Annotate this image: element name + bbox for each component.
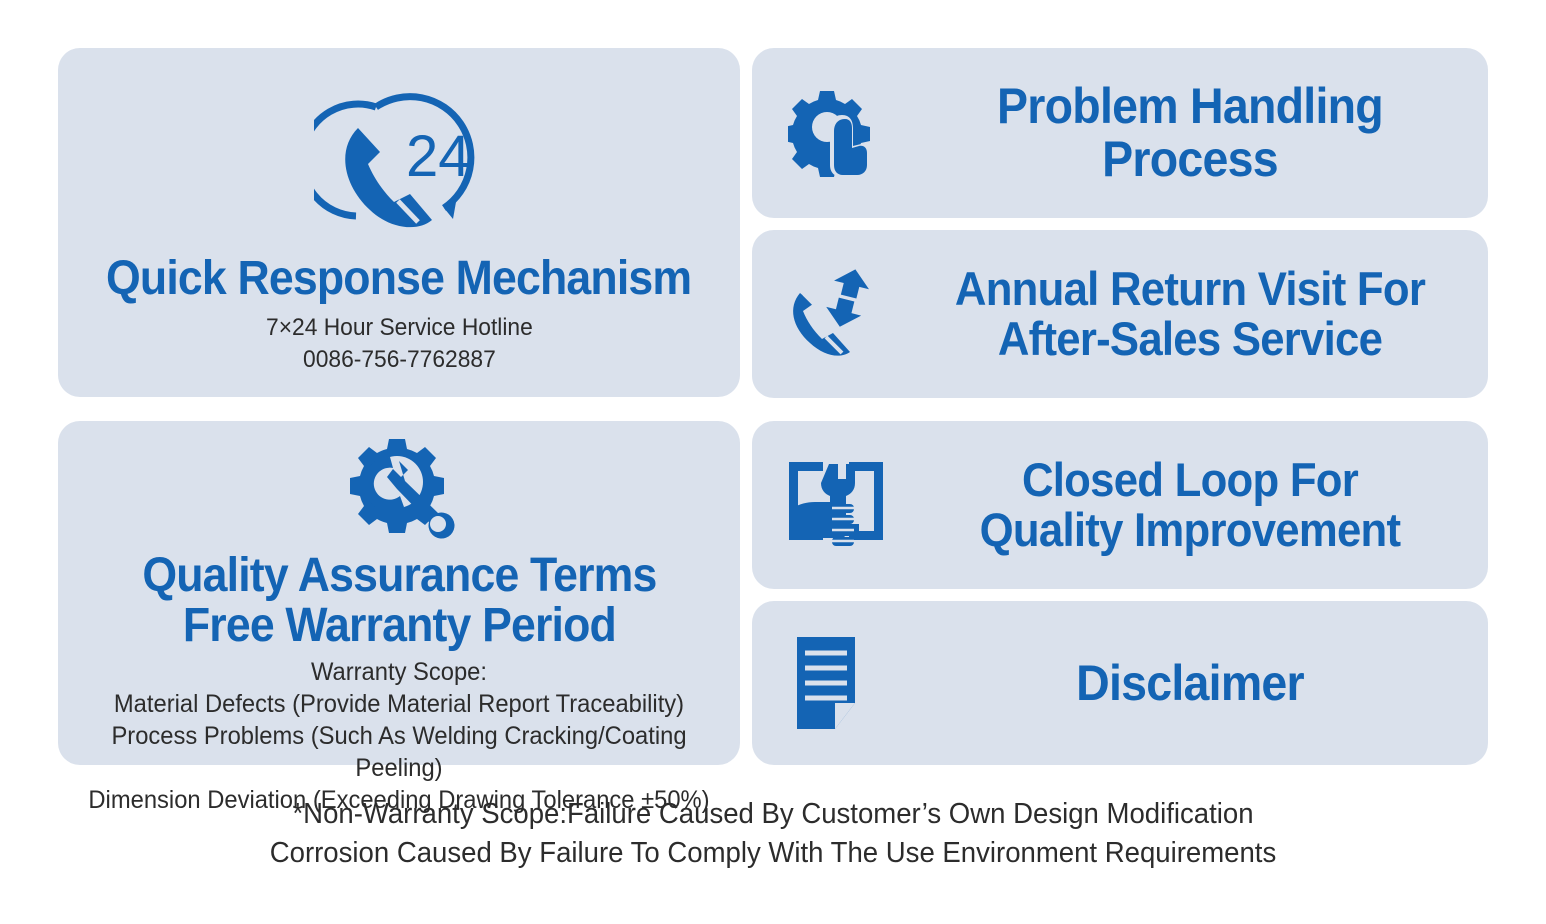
card-problem-handling: Problem Handling Process bbox=[752, 48, 1488, 218]
hand-wrench-frame-icon bbox=[780, 456, 892, 554]
gear-wrench-icon bbox=[337, 437, 462, 545]
svg-text:24: 24 bbox=[406, 124, 471, 189]
card-title-problem-handling: Problem Handling Process bbox=[913, 80, 1467, 186]
card-title-quick-response: Quick Response Mechanism bbox=[106, 254, 691, 304]
card-title-annual-return-visit: Annual Return Visit For After-Sales Serv… bbox=[913, 264, 1467, 364]
card-title-closed-loop: Closed Loop For Quality Improvement bbox=[913, 455, 1467, 555]
infographic-root: 24 Quick Response Mechanism 7×24 Hour Se… bbox=[0, 0, 1546, 924]
card-title-disclaimer: Disclaimer bbox=[913, 657, 1467, 710]
card-closed-loop: Closed Loop For Quality Improvement bbox=[752, 421, 1488, 589]
card-quality-assurance: Quality Assurance Terms Free Warranty Pe… bbox=[58, 421, 740, 765]
card-disclaimer: Disclaimer bbox=[752, 601, 1488, 765]
quality-assurance-details: Warranty Scope: Material Defects (Provid… bbox=[75, 656, 723, 816]
quick-response-subtitle: 7×24 Hour Service Hotline 0086-756-77628… bbox=[266, 312, 533, 375]
phone-exchange-arrows-icon bbox=[780, 267, 892, 362]
phone-24h-icon: 24 bbox=[314, 90, 484, 240]
card-annual-return-visit: Annual Return Visit For After-Sales Serv… bbox=[752, 230, 1488, 398]
gear-hand-click-icon bbox=[780, 89, 892, 177]
card-title-quality-assurance: Quality Assurance Terms Free Warranty Pe… bbox=[142, 551, 656, 652]
card-quick-response: 24 Quick Response Mechanism 7×24 Hour Se… bbox=[58, 48, 740, 397]
document-lines-icon bbox=[780, 633, 892, 733]
non-warranty-note: *Non-Warranty Scope:Failure Caused By Cu… bbox=[39, 795, 1508, 872]
